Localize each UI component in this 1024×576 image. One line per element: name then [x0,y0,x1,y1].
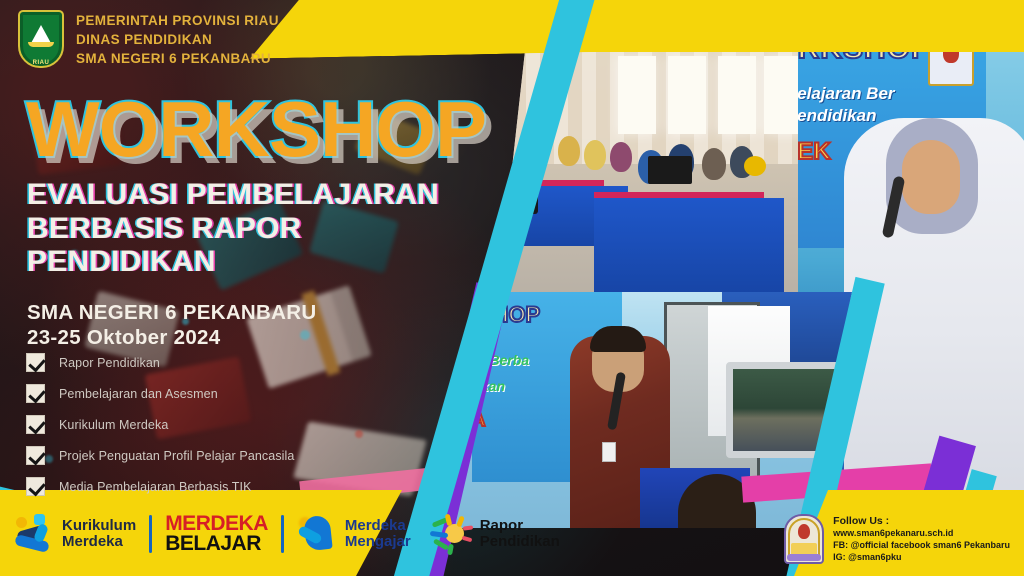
follow-us-title: Follow Us : [833,515,1010,529]
attendee [702,148,726,180]
organisation-header: RIAU PEMERINTAH PROVINSI RIAU DINAS PEND… [18,10,279,68]
logo-rapor-pendidikan[interactable]: Rapor Pendidikan [432,514,560,554]
page-title: WORKSHOP [26,96,486,163]
checkbox-checked-icon[interactable] [26,415,45,434]
merdeka-belajar-wordmark: MERDEKA BELAJAR [165,514,268,553]
list-item-label: Projek Penguatan Profil Pelajar Pancasil… [59,449,294,463]
list-item-label: Pembelajaran dan Asesmen [59,387,218,401]
window [718,56,756,134]
logo-line-2: BELAJAR [165,534,268,554]
kurikulum-merdeka-icon [14,514,54,554]
list-item: Pembelajaran dan Asesmen [26,384,294,403]
window [618,56,656,134]
facebook-link[interactable]: FB: @official facebook sman6 Pekanbaru [833,540,1010,552]
checkbox-checked-icon[interactable] [26,353,45,372]
logo-text: Rapor Pendidikan [480,518,560,550]
attendee [584,140,606,170]
org-line-1: PEMERINTAH PROVINSI RIAU [76,12,279,30]
logo-line-2: Mengajar [345,534,411,550]
list-item-label: Media Pembelajaran Berbasis TIK [59,480,252,494]
subtitle-line-2: BERBASIS RAPOR [27,212,439,246]
laptop [648,156,692,184]
id-card [602,442,616,462]
partner-logo-row: Kurikulum Merdeka MERDEKA BELAJAR Merdek… [14,506,560,562]
logo-merdeka-belajar[interactable]: MERDEKA BELAJAR [165,514,268,553]
follow-us-text: Follow Us : www.sman6pekanaru.sch.id FB:… [833,515,1010,564]
page-subtitle: EVALUASI PEMBELAJARAN BERBASIS RAPOR PEN… [27,178,439,279]
topic-checklist: Rapor Pendidikan Pembelajaran dan Asesme… [26,353,294,496]
logo-kurikulum-merdeka[interactable]: Kurikulum Merdeka [14,514,136,554]
organisation-lines: PEMERINTAH PROVINSI RIAU DINAS PENDIDIKA… [76,10,279,67]
logo-line-1: Rapor [480,518,560,534]
merdeka-mengajar-icon [297,514,337,554]
attendee [610,142,632,172]
event-date: 23-25 Oktober 2024 [27,325,316,350]
list-item-label: Kurikulum Merdeka [59,418,168,432]
list-item: Kurikulum Merdeka [26,415,294,434]
event-details: SMA NEGERI 6 PEKANBARU 23-25 Oktober 202… [27,300,316,350]
org-line-3: SMA NEGERI 6 PEKANBARU [76,50,279,68]
list-item: Rapor Pendidikan [26,353,294,372]
website-link[interactable]: www.sman6pekanaru.sch.id [833,528,1010,540]
logo-divider [281,515,284,553]
follow-us-block: Follow Us : www.sman6pekanaru.sch.id FB:… [784,514,1010,564]
school-logo-icon [784,514,824,564]
logo-line-2: Pendidikan [480,534,560,550]
checkbox-checked-icon[interactable] [26,446,45,465]
subtitle-line-3: PENDIDIKAN [27,245,439,279]
event-venue: SMA NEGERI 6 PEKANBARU [27,300,316,325]
window [668,56,706,134]
list-item-label: Rapor Pendidikan [59,356,160,370]
instagram-link[interactable]: IG: @sman6pku [833,552,1010,564]
logo-line-1: Merdeka [345,518,411,534]
logo-divider [149,515,152,553]
checkbox-checked-icon[interactable] [26,384,45,403]
logo-text: Merdeka Mengajar [345,518,411,550]
top-right-yellow-wedge [914,0,1024,52]
crest-label: RIAU [18,60,64,66]
subtitle-line-1: EVALUASI PEMBELAJARAN [27,178,439,212]
window [764,56,798,134]
rapor-pendidikan-icon [432,514,472,554]
logo-merdeka-mengajar[interactable]: Merdeka Mengajar [297,514,411,554]
speaker-face [902,140,960,214]
workshop-poster: WORKSHOP si Pembelajaran Ber Rapor Pendi… [0,0,1024,576]
logo-line-2: Merdeka [62,534,136,550]
logo-text: Kurikulum Merdeka [62,518,136,550]
flower-vase [744,156,766,176]
checkbox-checked-icon[interactable] [26,477,45,496]
org-line-2: DINAS PENDIDIKAN [76,31,279,49]
logo-line-1: Kurikulum [62,518,136,534]
attendee [558,136,580,166]
draped-table [594,198,784,294]
riau-provincial-crest-icon: RIAU [18,10,64,68]
list-item: Projek Penguatan Profil Pelajar Pancasil… [26,446,294,465]
list-item: Media Pembelajaran Berbasis TIK [26,477,294,496]
speaker-hair [590,326,646,352]
